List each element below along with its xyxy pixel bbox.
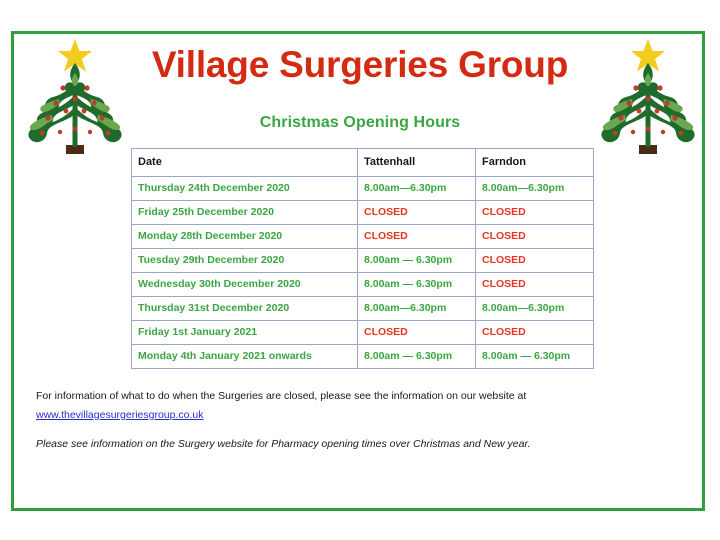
cell-date: Wednesday 30th December 2020 xyxy=(132,273,358,297)
website-link[interactable]: www.thevillagesurgeriesgroup.co.uk xyxy=(36,407,204,423)
cell-farndon-hours: 8.00am — 6.30pm xyxy=(476,345,594,369)
table-row: Thursday 31st December 2020 8.00am—6.30p… xyxy=(132,297,594,321)
cell-date: Friday 25th December 2020 xyxy=(132,201,358,225)
column-header-date: Date xyxy=(132,149,358,177)
table-row: Friday 1st January 2021 CLOSED CLOSED xyxy=(132,321,594,345)
cell-farndon-hours: CLOSED xyxy=(476,273,594,297)
footer-info-text: For information of what to do when the S… xyxy=(36,388,616,405)
cell-farndon-hours: 8.00am—6.30pm xyxy=(476,177,594,201)
cell-date: Thursday 24th December 2020 xyxy=(132,177,358,201)
table-row: Monday 4th January 2021 onwards 8.00am —… xyxy=(132,345,594,369)
cell-date: Thursday 31st December 2020 xyxy=(132,297,358,321)
page-title: Village Surgeries Group xyxy=(0,46,720,85)
table-body: Thursday 24th December 2020 8.00am—6.30p… xyxy=(132,177,594,369)
column-header-farndon: Farndon xyxy=(476,149,594,177)
cell-tattenhall-hours: 8.00am — 6.30pm xyxy=(358,249,476,273)
cell-date: Monday 4th January 2021 onwards xyxy=(132,345,358,369)
cell-tattenhall-hours: CLOSED xyxy=(358,201,476,225)
cell-date: Friday 1st January 2021 xyxy=(132,321,358,345)
cell-farndon-hours: 8.00am—6.30pm xyxy=(476,297,594,321)
footer-pharmacy-note: Please see information on the Surgery we… xyxy=(36,437,616,452)
footer: For information of what to do when the S… xyxy=(36,388,616,452)
table-row: Thursday 24th December 2020 8.00am—6.30p… xyxy=(132,177,594,201)
cell-tattenhall-hours: CLOSED xyxy=(358,225,476,249)
table-header-row: Date Tattenhall Farndon xyxy=(132,149,594,177)
cell-farndon-hours: CLOSED xyxy=(476,321,594,345)
christmas-opening-hours-poster: Village Surgeries Group Christmas Openin… xyxy=(0,0,720,540)
opening-hours-table: Date Tattenhall Farndon Thursday 24th De… xyxy=(131,148,594,369)
cell-farndon-hours: CLOSED xyxy=(476,225,594,249)
cell-tattenhall-hours: 8.00am — 6.30pm xyxy=(358,273,476,297)
page-subtitle: Christmas Opening Hours xyxy=(0,114,720,132)
table-row: Tuesday 29th December 2020 8.00am — 6.30… xyxy=(132,249,594,273)
cell-date: Monday 28th December 2020 xyxy=(132,225,358,249)
cell-tattenhall-hours: 8.00am—6.30pm xyxy=(358,177,476,201)
table-row: Monday 28th December 2020 CLOSED CLOSED xyxy=(132,225,594,249)
column-header-tattenhall: Tattenhall xyxy=(358,149,476,177)
cell-tattenhall-hours: 8.00am—6.30pm xyxy=(358,297,476,321)
cell-tattenhall-hours: 8.00am — 6.30pm xyxy=(358,345,476,369)
table-row: Wednesday 30th December 2020 8.00am — 6.… xyxy=(132,273,594,297)
cell-farndon-hours: CLOSED xyxy=(476,249,594,273)
cell-date: Tuesday 29th December 2020 xyxy=(132,249,358,273)
cell-tattenhall-hours: CLOSED xyxy=(358,321,476,345)
table-row: Friday 25th December 2020 CLOSED CLOSED xyxy=(132,201,594,225)
cell-farndon-hours: CLOSED xyxy=(476,201,594,225)
